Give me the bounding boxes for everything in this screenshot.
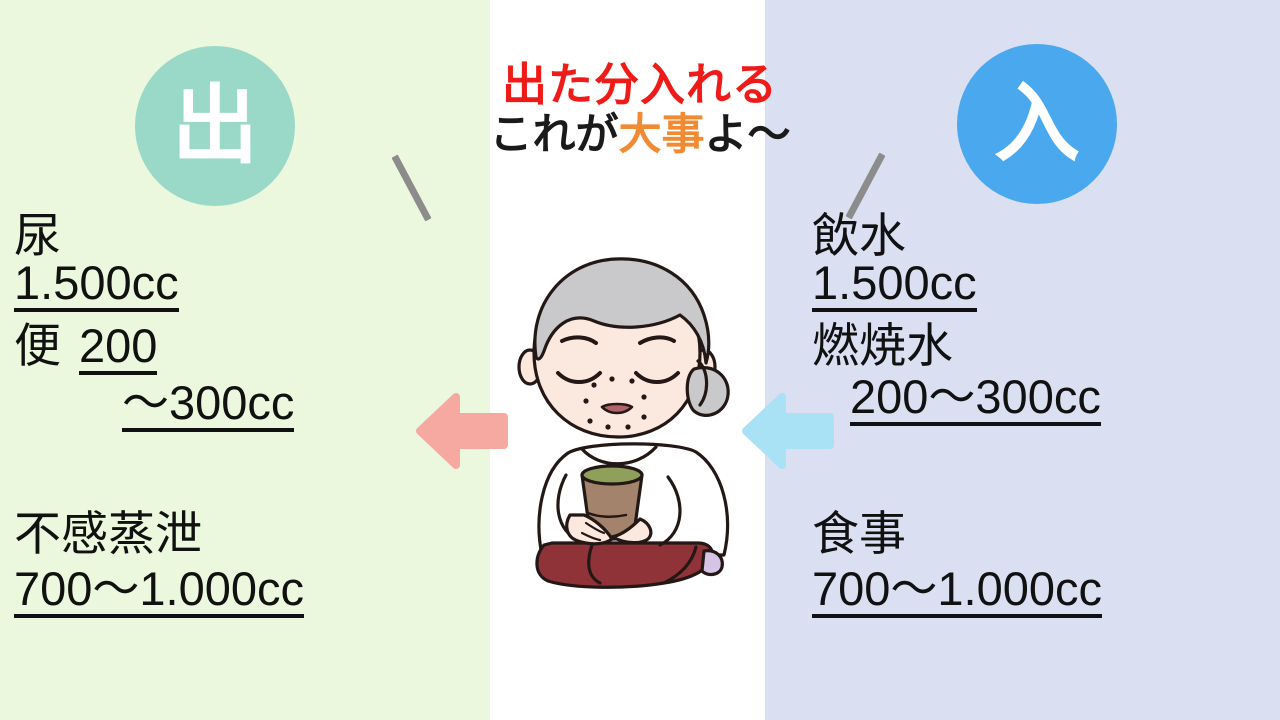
headline-line-2-after: よ〜 xyxy=(705,111,791,159)
input-row-metabolic-water-value: 200〜300cc xyxy=(850,373,1101,426)
headline-line-2-before: これが xyxy=(490,111,619,159)
output-row-stool-value: 200 xyxy=(79,322,157,375)
input-row-metabolic-water-label: 燃焼水 xyxy=(812,322,953,369)
headline: 出た分入れる これが大事よ〜 xyxy=(400,62,880,159)
output-row-stool-label: 便 xyxy=(14,322,61,369)
output-row-urine: 尿1.500cc xyxy=(14,212,179,312)
slide-canvas: 出 入 出た分入れる これが大事よ〜 尿1.500cc 便200 〜300cc … xyxy=(0,0,1280,720)
input-row-drink-label: 飲水 xyxy=(812,212,906,259)
output-row-insensible-label: 不感蒸泄 xyxy=(14,510,202,557)
headline-line-2: これが大事よ〜 xyxy=(400,111,880,159)
input-row-drink: 飲水1.500cc xyxy=(812,212,977,312)
output-row-insensible-value: 700〜1.000cc xyxy=(14,565,304,618)
arrow-left-output-icon xyxy=(416,392,508,470)
headline-line-2-emphasis: 大事 xyxy=(619,111,705,159)
input-row-metabolic-water: 燃焼水 200〜300cc xyxy=(812,322,1101,426)
input-row-meal-value: 700〜1.000cc xyxy=(812,565,1102,618)
output-row-insensible: 不感蒸泄 700〜1.000cc xyxy=(14,510,304,618)
output-row-stool: 便200 〜300cc xyxy=(14,322,294,432)
headline-line-1: 出た分入れる xyxy=(400,62,880,109)
output-row-urine-value: 1.500cc xyxy=(14,259,179,312)
output-badge: 出 xyxy=(135,46,295,206)
output-row-urine-label: 尿 xyxy=(14,212,61,259)
output-badge-label: 出 xyxy=(172,83,258,169)
input-row-meal-label: 食事 xyxy=(812,510,906,557)
elderly-woman-drinking-tea-illustration xyxy=(508,245,758,600)
input-badge-label: 入 xyxy=(994,81,1080,167)
output-row-stool-value-line2: 〜300cc xyxy=(122,379,294,432)
input-row-drink-value: 1.500cc xyxy=(812,259,977,312)
input-row-meal: 食事 700〜1.000cc xyxy=(812,510,1102,618)
input-badge: 入 xyxy=(957,44,1117,204)
arrow-left-input-icon xyxy=(742,392,834,470)
